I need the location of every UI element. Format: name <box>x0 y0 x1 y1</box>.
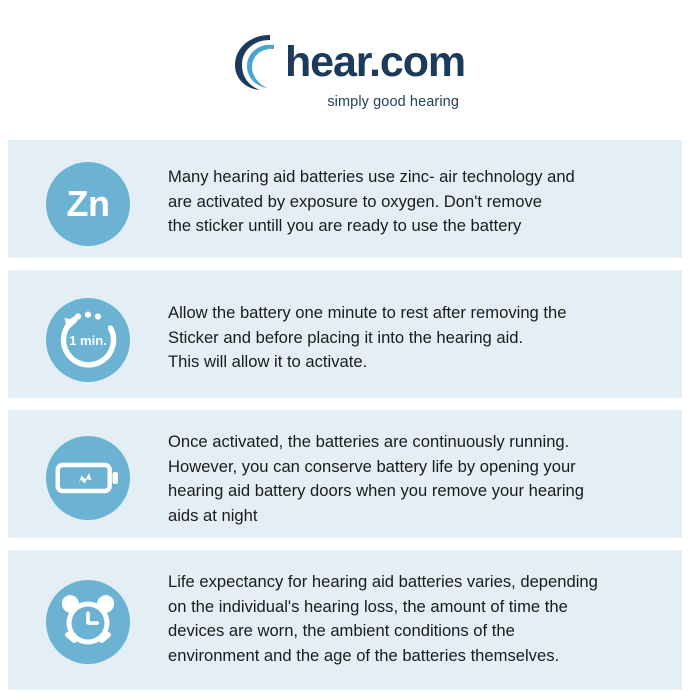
panel-icon-column: 1 min. <box>8 298 168 382</box>
logo-tagline: simply good hearing <box>229 94 461 110</box>
panel-text: Allow the battery one minute to rest aft… <box>168 292 682 375</box>
panel-text-line: However, you can conserve battery life b… <box>168 455 670 480</box>
tips-list: Zn Many hearing aid batteries use zinc- … <box>0 140 690 690</box>
battery-charge-icon <box>46 436 130 520</box>
panel-text-line: the sticker untill you are ready to use … <box>168 214 670 239</box>
list-item: 1 min. Allow the battery one minute to r… <box>8 270 682 398</box>
list-item: Zn Many hearing aid batteries use zinc- … <box>8 140 682 258</box>
panel-icon-column <box>8 580 168 664</box>
panel-text-line: Allow the battery one minute to rest aft… <box>168 301 670 326</box>
logo-wordmark: hear.com <box>285 40 465 84</box>
list-item: Life expectancy for hearing aid batterie… <box>8 550 682 690</box>
one-minute-timer-icon: 1 min. <box>46 298 130 382</box>
panel-text-line: hearing aid battery doors when you remov… <box>168 479 670 504</box>
page-header: hear.com simply good hearing <box>0 0 690 140</box>
panel-text-line: devices are worn, the ambient conditions… <box>168 619 670 644</box>
panel-text: Once activated, the batteries are contin… <box>168 428 682 528</box>
panel-icon-column: Zn <box>8 162 168 246</box>
panel-text-line: Many hearing aid batteries use zinc- air… <box>168 165 670 190</box>
panel-text-line: are activated by exposure to oxygen. Don… <box>168 190 670 215</box>
zn-icon: Zn <box>46 162 130 246</box>
timer-icon-label: 1 min. <box>69 333 107 348</box>
zn-icon-label: Zn <box>67 186 110 222</box>
brand-logo[interactable]: hear.com simply good hearing <box>229 31 461 110</box>
panel-text-line: Sticker and before placing it into the h… <box>168 326 670 351</box>
logo-row: hear.com <box>229 31 465 93</box>
panel-text-line: Once activated, the batteries are contin… <box>168 430 670 455</box>
panel-text-line: on the individual's hearing loss, the am… <box>168 595 670 620</box>
list-item: Once activated, the batteries are contin… <box>8 410 682 538</box>
crescent-logo-icon <box>229 31 289 93</box>
panel-text: Life expectancy for hearing aid batterie… <box>168 568 682 668</box>
panel-text-line: aids at night <box>168 504 670 529</box>
panel-text-line: environment and the age of the batteries… <box>168 644 670 669</box>
panel-text-line: Life expectancy for hearing aid batterie… <box>168 570 670 595</box>
alarm-clock-icon <box>46 580 130 664</box>
panel-text: Many hearing aid batteries use zinc- air… <box>168 162 682 239</box>
panel-text-line: This will allow it to activate. <box>168 350 670 375</box>
panel-icon-column <box>8 436 168 520</box>
